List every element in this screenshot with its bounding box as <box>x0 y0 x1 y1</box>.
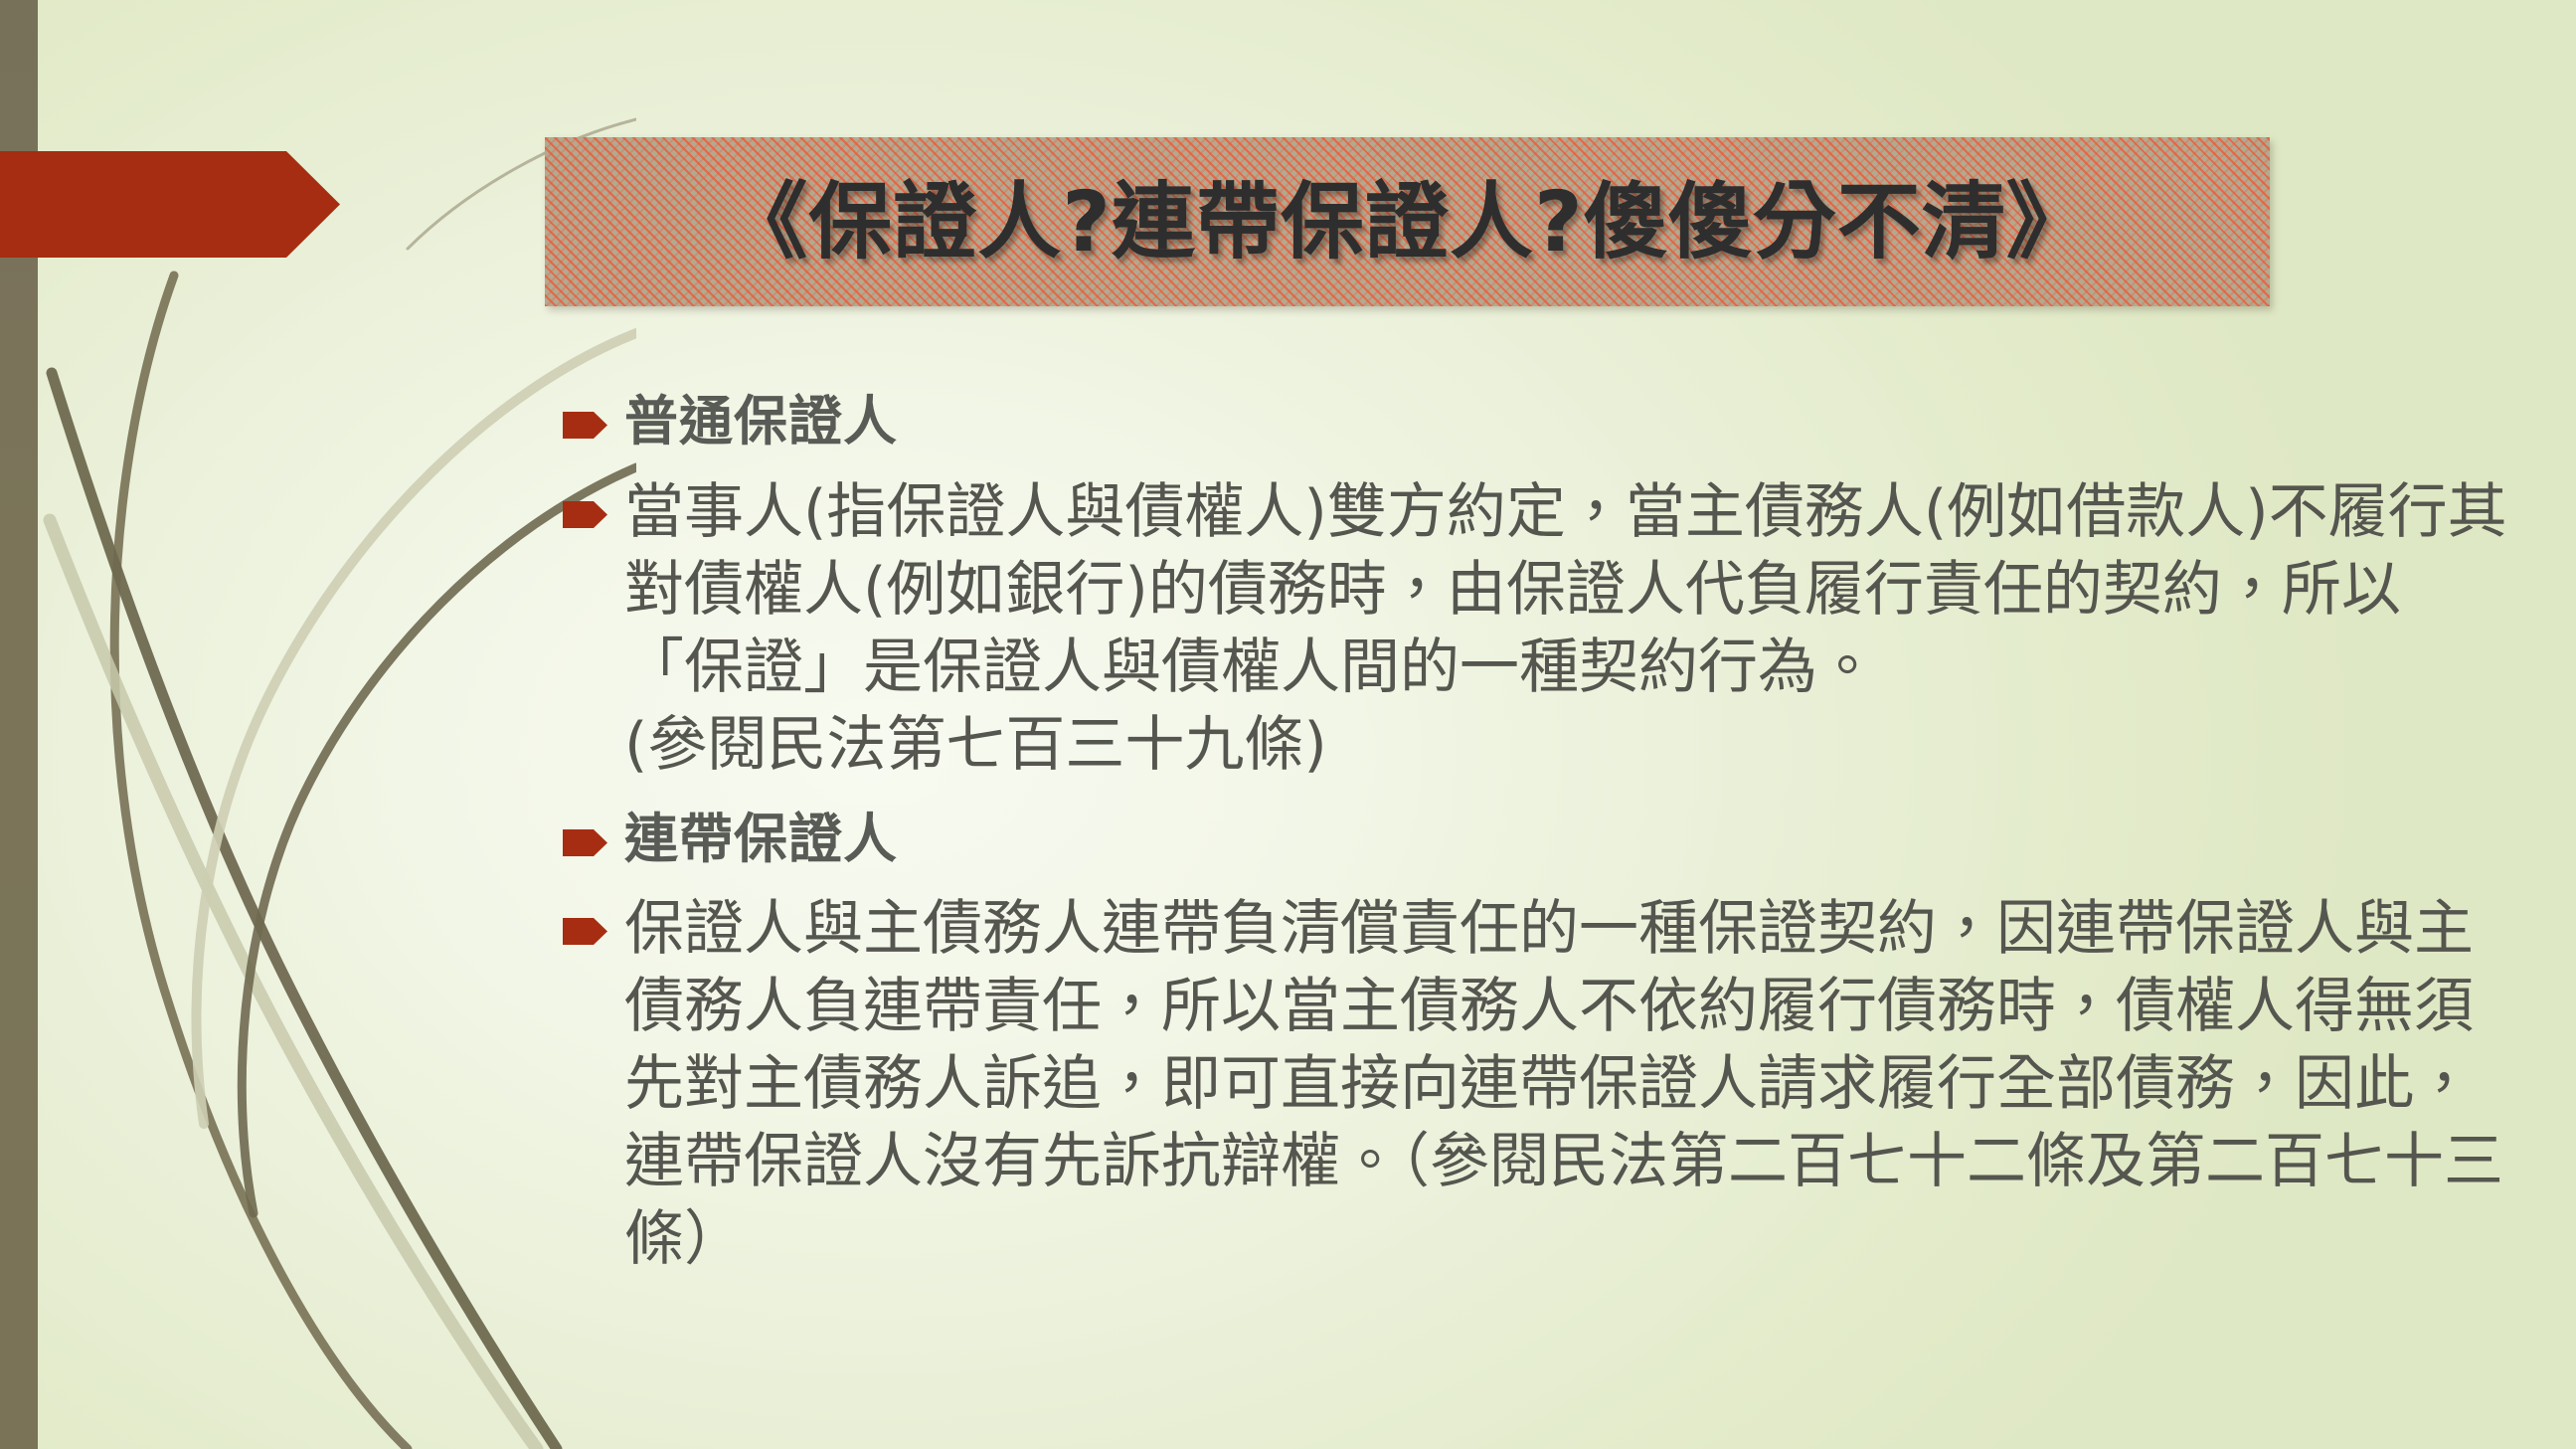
arrow-pentagon-bullet-icon <box>563 827 607 858</box>
title-banner: 《保證人?連帶保證人?傻傻分不清》 <box>545 137 2270 306</box>
bullet-cell <box>563 473 624 530</box>
section-heading: 連帶保證人 <box>624 808 898 877</box>
red-arrow-banner <box>0 151 340 258</box>
page-title: 《保證人?連帶保證人?傻傻分不清》 <box>724 180 2090 264</box>
arrow-pentagon-bullet-icon <box>563 916 607 947</box>
bullet-heading-row: 普通保證人 <box>563 390 2511 459</box>
slide-canvas: 《保證人?連帶保證人?傻傻分不清》 普通保證人 當事人(指保證人與債權人)雙方約… <box>0 0 2576 1449</box>
spacer <box>563 459 2511 473</box>
bullet-cell <box>563 808 624 858</box>
paragraph-text: 當事人(指保證人與債權人)雙方約定，當主債務人(例如借款人)不履行其對債權人(例… <box>624 473 2511 788</box>
bullet-paragraph-row: 當事人(指保證人與債權人)雙方約定，當主債務人(例如借款人)不履行其對債權人(例… <box>563 473 2511 788</box>
bullet-heading-row: 連帶保證人 <box>563 808 2511 877</box>
bullet-cell <box>563 390 624 441</box>
bullet-paragraph-row: 保證人與主債務人連帶負清償責任的一種保證契約，因連帶保證人與主債務人負連帶責任，… <box>563 890 2511 1282</box>
paragraph-text: 保證人與主債務人連帶負清償責任的一種保證契約，因連帶保證人與主債務人負連帶責任，… <box>624 890 2511 1282</box>
body-content: 普通保證人 當事人(指保證人與債權人)雙方約定，當主債務人(例如借款人)不履行其… <box>563 390 2511 1282</box>
arrow-pentagon-bullet-icon <box>563 410 607 441</box>
spacer <box>563 876 2511 890</box>
bullet-cell <box>563 890 624 947</box>
section-heading: 普通保證人 <box>624 390 898 459</box>
arrow-pentagon-bullet-icon <box>563 499 607 530</box>
spacer <box>563 788 2511 808</box>
